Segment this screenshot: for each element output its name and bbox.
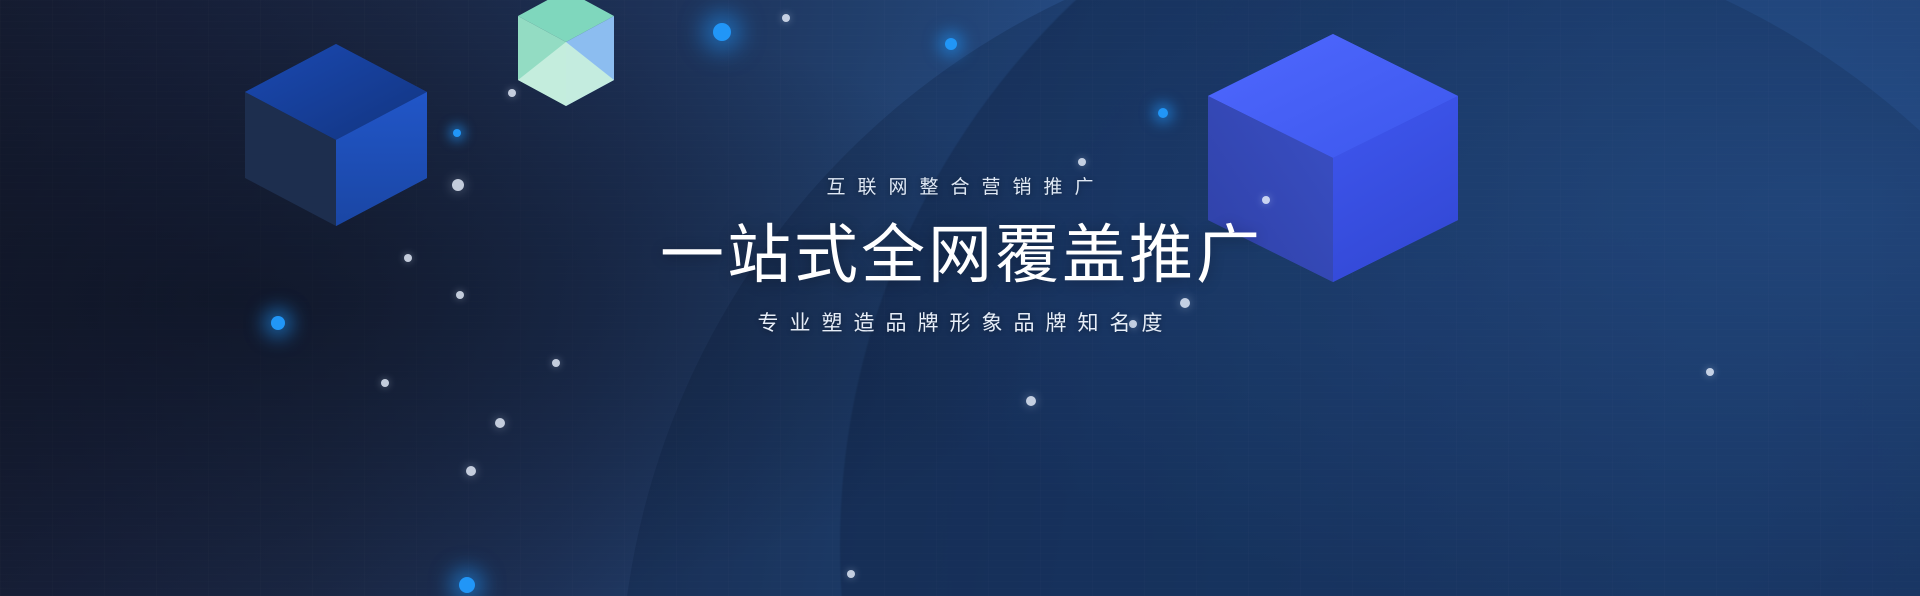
hero-text-block: 互联网整合营销推广 一站式全网覆盖推广 专业塑造品牌形象品牌知名度 xyxy=(0,178,1920,334)
banner-hero: 互联网整合营销推广 一站式全网覆盖推广 专业塑造品牌形象品牌知名度 xyxy=(0,0,1920,596)
particle-dot xyxy=(552,359,560,367)
particle-dot xyxy=(1078,158,1086,166)
particle-dot xyxy=(466,466,476,476)
particle-dot xyxy=(459,577,475,593)
particle-dot xyxy=(945,38,957,50)
particle-dot xyxy=(1158,108,1168,118)
particle-dot xyxy=(847,570,855,578)
cube-mint-top-icon xyxy=(518,0,614,106)
particle-dot xyxy=(713,23,731,41)
hero-tagline-top: 互联网整合营销推广 xyxy=(0,178,1920,197)
hero-tagline-bottom: 专业塑造品牌形象品牌知名度 xyxy=(0,313,1920,334)
particle-dot xyxy=(508,89,516,97)
particle-dot xyxy=(782,14,790,22)
particle-dot xyxy=(381,379,389,387)
particle-dot xyxy=(453,129,461,137)
particle-dot xyxy=(1026,396,1036,406)
hero-headline: 一站式全网覆盖推广 xyxy=(0,223,1920,287)
particle-dot xyxy=(495,418,505,428)
particle-dot xyxy=(1706,368,1714,376)
